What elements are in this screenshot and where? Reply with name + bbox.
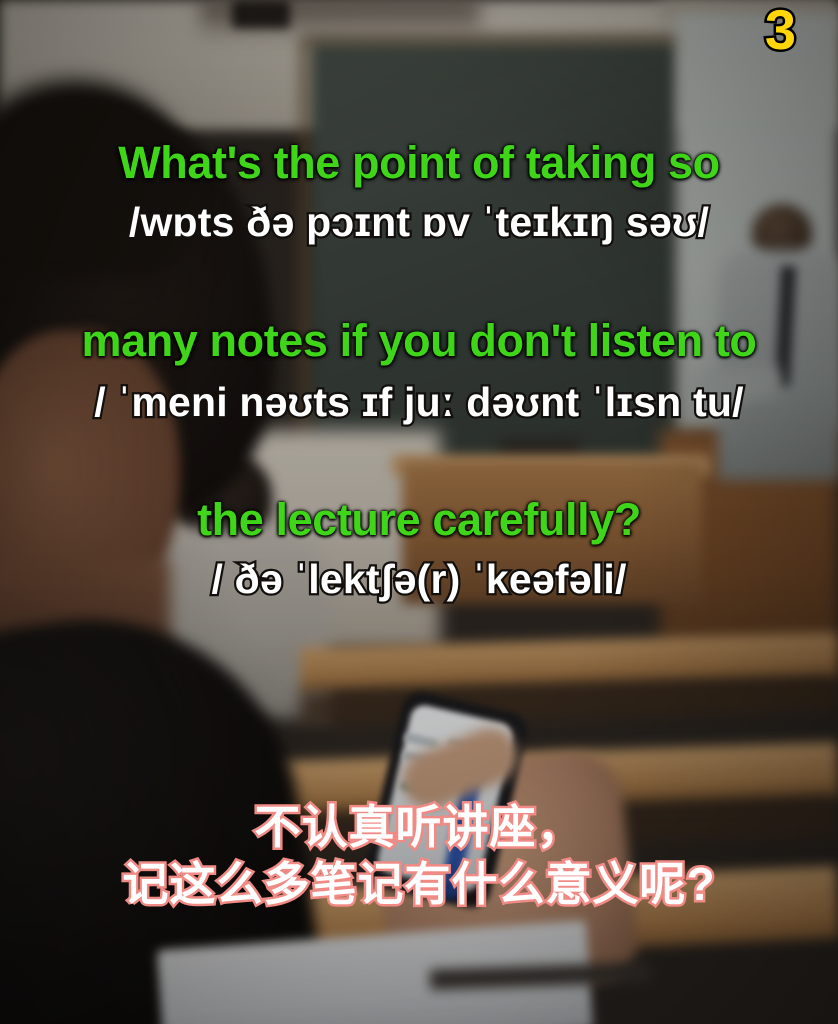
ipa-transcription-line-3: / ðə ˈlektʃə(r) ˈkeəfəli/ (0, 557, 838, 602)
english-subtitle-line-1: What's the point of taking so (0, 140, 838, 187)
subtitle-overlay: 3 What's the point of taking so /wɒts ðə… (0, 0, 838, 1024)
english-subtitle-line-2: many notes if you don't listen to (0, 318, 838, 365)
english-subtitle-line-3: the lecture carefully? (0, 497, 838, 544)
video-frame: 3 What's the point of taking so /wɒts ðə… (0, 0, 838, 1024)
ipa-transcription-line-2: / ˈmeni nəʊts ɪf juː dəʊnt ˈlɪsn tu/ (0, 380, 838, 425)
ipa-transcription-line-1: /wɒts ðə pɔɪnt ɒv ˈteɪkɪŋ səʊ/ (0, 200, 838, 245)
chinese-subtitle-line-1: 不认真听讲座， (0, 798, 838, 857)
sentence-number-badge: 3 (765, 2, 796, 58)
chinese-subtitle-line-2: 记这么多笔记有什么意义呢? (0, 855, 838, 914)
